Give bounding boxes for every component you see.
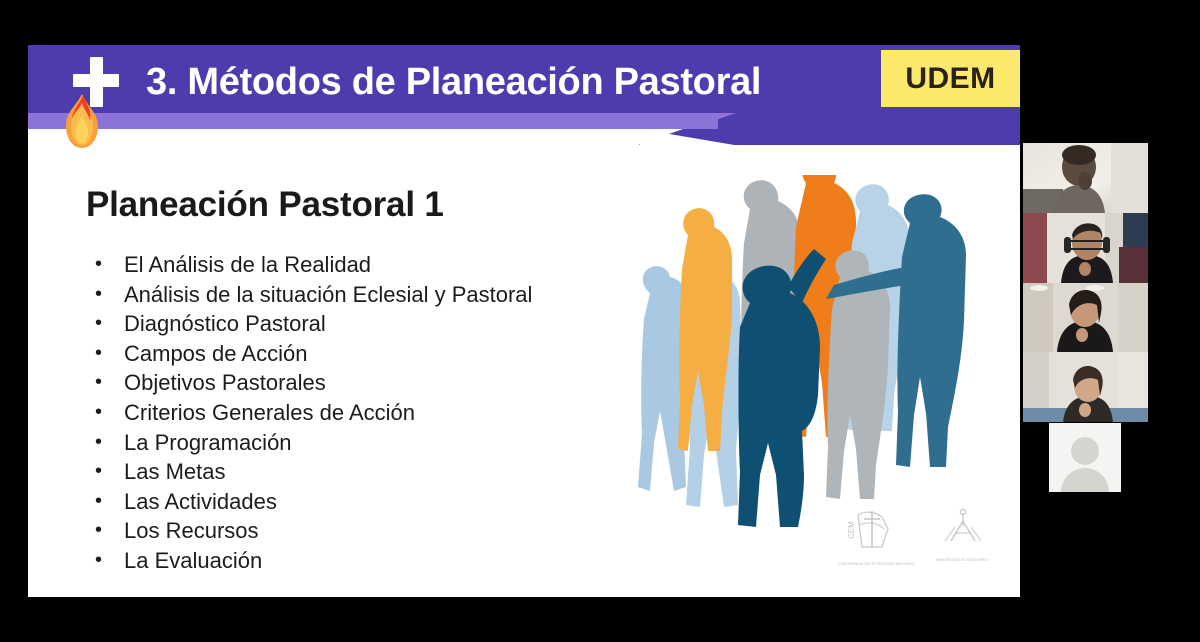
list-item: La Programación [86,428,646,458]
list-item: Criterios Generales de Acción [86,398,646,428]
slide-body-heading: Planeación Pastoral 1 [86,185,444,225]
participant-tile-2[interactable] [1023,213,1148,283]
shared-slide[interactable]: 3. Métodos de Planeación Pastoral UDEM P… [28,45,1020,597]
meeting-screen: 3. Métodos de Planeación Pastoral UDEM P… [0,0,1200,642]
udem-seal-logo: UNIVERSIDAD DE MONTERREY [933,507,993,562]
avatar-head-icon [1071,437,1099,465]
list-item: Las Actividades [86,487,646,517]
list-item: Objetivos Pastorales [86,368,646,398]
udem-logo: UDEM [881,50,1020,107]
participant-tile-3[interactable] [1023,283,1148,352]
participant-tile-4[interactable] [1023,352,1148,422]
udem-seal-logo-caption: UNIVERSIDAD DE MONTERREY [933,558,993,562]
svg-text:CEM: CEM [847,521,856,539]
participant-tile-1[interactable] [1023,143,1148,213]
cem-logo: CEM CONFERENCIA DEL EPISCOPADO MEXICANO [838,507,915,566]
slide-header-accent-band [28,113,718,129]
participant-tile-5[interactable] [1049,423,1121,492]
avatar-body-icon [1061,468,1109,492]
list-item: Las Metas [86,457,646,487]
list-item: Análisis de la situación Eclesial y Past… [86,280,646,310]
list-item: Campos de Acción [86,339,646,369]
list-item: Los Recursos [86,516,646,546]
list-item: La Evaluación [86,546,646,576]
slide-title: 3. Métodos de Planeación Pastoral [146,55,761,109]
cem-logo-caption: CONFERENCIA DEL EPISCOPADO MEXICANO [838,562,915,566]
participant-video-panel [1023,143,1148,492]
flame-icon [58,92,106,150]
slide-footer-logos: CEM CONFERENCIA DEL EPISCOPADO MEXICANO … [838,507,1008,567]
slide-bullet-list: El Análisis de la Realidad Análisis de l… [86,250,646,576]
list-item: El Análisis de la Realidad [86,250,646,280]
teamwork-silhouettes-graphic [628,175,988,530]
list-item: Diagnóstico Pastoral [86,309,646,339]
